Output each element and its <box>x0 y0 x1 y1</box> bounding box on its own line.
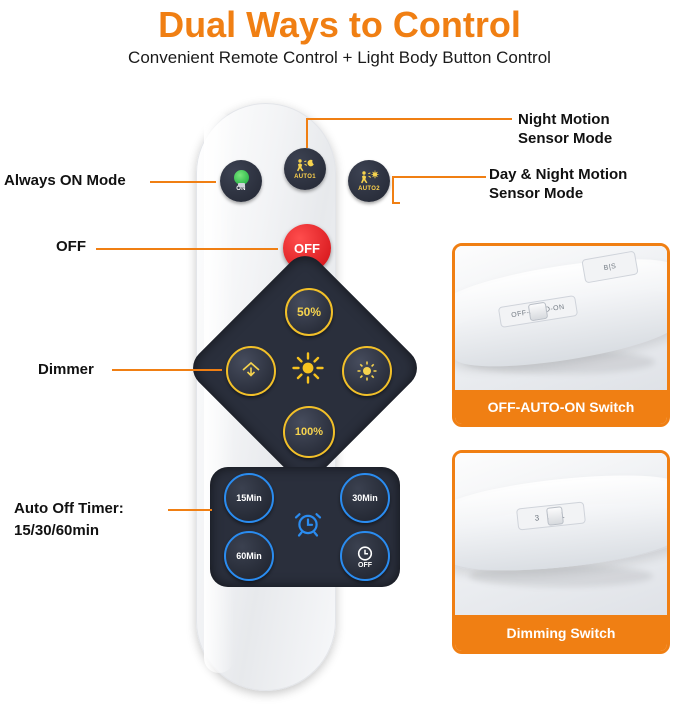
label-night-motion-line2: Sensor Mode <box>518 129 612 148</box>
day-night-motion-auto2-button[interactable]: AUTO2 <box>348 160 390 202</box>
connector-off <box>96 248 278 250</box>
dimming-switch-knob[interactable] <box>546 506 564 526</box>
connector-night-v <box>306 118 308 148</box>
dim-50-button[interactable]: 50% <box>285 288 333 336</box>
label-day-night-motion: Day & Night Motion Sensor Mode <box>489 165 627 203</box>
photo-dimming-switch: 3 2 1 <box>455 453 667 615</box>
auto2-button-label: AUTO2 <box>358 186 380 192</box>
alarm-clock-icon <box>288 503 328 543</box>
label-off: OFF <box>56 238 86 255</box>
brightness-center-icon <box>290 350 326 386</box>
label-auto-off-timer-line1: Auto Off Timer: <box>14 498 124 520</box>
auto1-button-label: AUTO1 <box>294 174 316 180</box>
connector-daynight-v <box>392 176 394 202</box>
label-day-night-line2: Sensor Mode <box>489 184 627 203</box>
caption-off-auto-on: OFF-AUTO-ON Switch <box>455 390 667 424</box>
brightness-down-icon <box>239 359 263 383</box>
dim-100-button[interactable]: 100% <box>283 406 335 458</box>
night-motion-auto1-button[interactable]: AUTO1 <box>284 148 326 190</box>
off-auto-on-switch-knob[interactable] <box>528 302 548 322</box>
connector-night-h <box>306 118 512 120</box>
page-title: Dual Ways to Control <box>0 4 679 46</box>
walking-person-moon-icon <box>295 158 315 173</box>
brightness-increase-button[interactable] <box>342 346 392 396</box>
brightness-up-icon <box>355 359 379 383</box>
label-night-motion-line1: Night Motion <box>518 110 612 129</box>
panel-off-auto-on: B|S OFF-AUTO-ON OFF-AUTO-ON Switch <box>452 243 670 427</box>
page-subtitle: Convenient Remote Control + Light Body B… <box>0 48 679 68</box>
timer-60min-button[interactable]: 60Min <box>224 531 274 581</box>
connector-dimmer <box>112 369 222 371</box>
timer-15min-button[interactable]: 15Min <box>224 473 274 523</box>
label-dimmer: Dimmer <box>38 361 94 378</box>
clock-off-icon: OFF <box>352 543 378 569</box>
label-day-night-line1: Day & Night Motion <box>489 165 627 184</box>
connector-daynight-h2 <box>392 202 400 204</box>
connector-timer <box>168 509 212 511</box>
label-night-motion: Night Motion Sensor Mode <box>518 110 612 148</box>
photo-off-auto-on: B|S OFF-AUTO-ON <box>455 246 667 390</box>
always-on-button[interactable]: ON <box>220 160 262 202</box>
label-auto-off-timer: Auto Off Timer: 15/30/60min <box>14 498 124 542</box>
svg-text:OFF: OFF <box>358 562 373 569</box>
connector-daynight-h <box>392 176 486 178</box>
lightbulb-icon <box>234 170 249 185</box>
brightness-decrease-button[interactable] <box>226 346 276 396</box>
timer-off-button[interactable]: OFF <box>340 531 390 581</box>
caption-dimming-switch: Dimming Switch <box>455 615 667 651</box>
connector-always-on <box>150 181 216 183</box>
sun-icon <box>291 351 325 385</box>
walking-person-sun-icon <box>359 170 379 185</box>
panel-dimming-switch: 3 2 1 Dimming Switch <box>452 450 670 654</box>
alarm-clock-glyph <box>291 506 325 540</box>
timer-30min-button[interactable]: 30Min <box>340 473 390 523</box>
label-auto-off-timer-line2: 15/30/60min <box>14 520 124 542</box>
label-always-on: Always ON Mode <box>4 172 126 189</box>
